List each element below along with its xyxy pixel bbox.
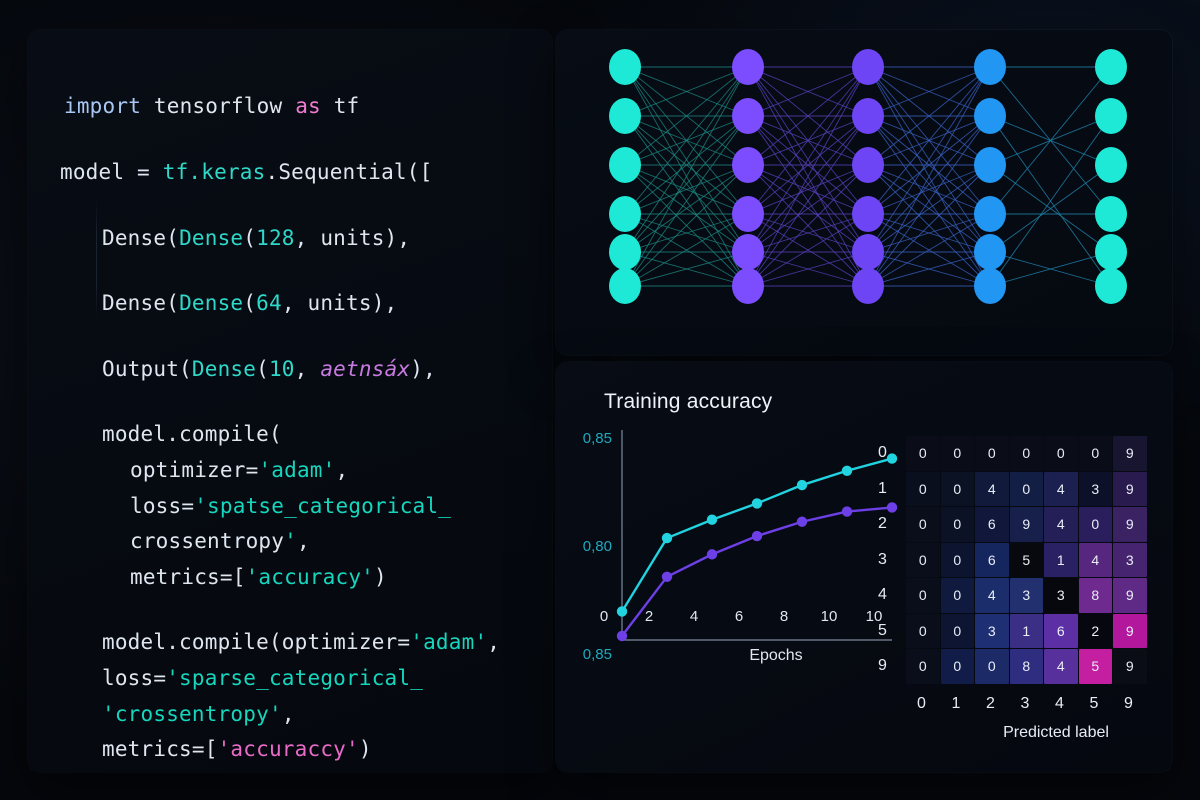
confusion-matrix-cell[interactable]: 4 — [1044, 507, 1078, 542]
confusion-matrix-cell[interactable]: 2 — [1079, 614, 1113, 649]
nn-node-output-layer[interactable] — [1095, 98, 1127, 134]
accuracy-y-tick: 0,85 — [556, 646, 612, 663]
confusion-matrix-row-label: 2 — [878, 515, 887, 533]
confusion-matrix-cell[interactable]: 1 — [1044, 543, 1078, 578]
code-token: 10 — [269, 357, 295, 381]
confusion-matrix-cell[interactable]: 4 — [975, 472, 1009, 507]
accuracy-x-tick: 10 — [811, 608, 847, 625]
confusion-matrix-cell[interactable]: 8 — [1010, 649, 1044, 684]
confusion-matrix-cell[interactable]: 4 — [1044, 472, 1078, 507]
nn-node-hidden-layer-3[interactable] — [974, 234, 1006, 270]
accuracy-point-validation[interactable] — [707, 549, 717, 559]
code-token: 'accuracy' — [246, 565, 374, 589]
confusion-matrix-cell[interactable]: 4 — [975, 578, 1009, 613]
code-token: tf.keras — [163, 160, 266, 184]
accuracy-x-tick: 4 — [676, 608, 712, 625]
code-line-7: optimizer='adam', — [28, 460, 552, 481]
training-accuracy-chart — [574, 422, 904, 682]
accuracy-point-train[interactable] — [842, 466, 852, 476]
nn-node-output-layer[interactable] — [1095, 234, 1127, 270]
code-token: ( — [256, 357, 269, 381]
confusion-matrix-cell[interactable]: 3 — [975, 614, 1009, 649]
nn-node-hidden-layer-3[interactable] — [974, 147, 1006, 183]
confusion-matrix-cell[interactable]: 8 — [1079, 578, 1113, 613]
code-token: Dense — [179, 226, 243, 250]
nn-node-output-layer[interactable] — [1095, 196, 1127, 232]
accuracy-point-train[interactable] — [887, 453, 897, 463]
confusion-matrix-row-label: 4 — [878, 586, 887, 604]
code-token: Dense — [192, 357, 256, 381]
nn-node-input-layer[interactable] — [609, 234, 641, 270]
code-token: model.compile(optimizer= — [102, 630, 410, 654]
code-line-14: metrics=['accuraccy') — [28, 739, 552, 760]
code-token: import — [64, 94, 141, 118]
confusion-matrix-cell[interactable]: 0 — [1010, 436, 1044, 471]
code-token: 64 — [256, 291, 282, 315]
confusion-matrix-cell[interactable]: 0 — [906, 649, 940, 684]
code-panel: import tensorflow as tfmodel = tf.keras.… — [28, 30, 552, 772]
code-token: Dense( — [102, 291, 179, 315]
code-token: aetnsáx — [320, 357, 410, 381]
confusion-matrix-col-label: 9 — [1124, 695, 1133, 713]
nn-node-hidden-layer-1[interactable] — [732, 49, 764, 85]
code-token: ) — [374, 565, 387, 589]
code-line-9: crossentropy', — [28, 531, 552, 552]
accuracy-point-validation[interactable] — [662, 572, 672, 582]
accuracy-point-train[interactable] — [797, 480, 807, 490]
code-token: loss= — [130, 494, 194, 518]
confusion-matrix-col-label: 4 — [1055, 695, 1064, 713]
confusion-matrix-cell[interactable]: 1 — [1010, 614, 1044, 649]
nn-node-hidden-layer-2[interactable] — [852, 268, 884, 304]
nn-node-hidden-layer-2[interactable] — [852, 98, 884, 134]
code-token: 128 — [256, 226, 295, 250]
confusion-matrix-cell[interactable]: 0 — [941, 507, 975, 542]
confusion-matrix-cell[interactable]: 0 — [941, 578, 975, 613]
code-token: , — [336, 458, 349, 482]
accuracy-point-validation[interactable] — [617, 631, 627, 641]
code-line-2: model = tf.keras.Sequential([ — [28, 162, 552, 183]
code-token: model = — [60, 160, 163, 184]
code-line-13: 'crossentropy', — [28, 704, 552, 725]
confusion-matrix-cell[interactable]: 0 — [1044, 436, 1078, 471]
code-token: ' — [284, 529, 297, 553]
confusion-matrix-cell[interactable]: 0 — [1079, 507, 1113, 542]
code-token: ), — [410, 357, 436, 381]
code-token: ( — [243, 226, 256, 250]
code-line-3: Dense(Dense(128, units), — [28, 228, 552, 249]
app-root: import tensorflow as tfmodel = tf.keras.… — [0, 0, 1200, 800]
chart-title: Training accuracy — [604, 390, 772, 414]
confusion-matrix-row-label: 1 — [878, 480, 887, 498]
code-token: Dense( — [102, 226, 179, 250]
confusion-matrix-cell[interactable]: 4 — [1079, 543, 1113, 578]
code-token: metrics=[ — [130, 565, 246, 589]
confusion-matrix-col-label: 0 — [917, 695, 926, 713]
confusion-matrix-cell[interactable]: 9 — [1113, 436, 1147, 471]
nn-node-input-layer[interactable] — [609, 196, 641, 232]
code-token: optimizer= — [130, 458, 258, 482]
code-token: 'crossentropy' — [102, 702, 282, 726]
nn-node-hidden-layer-1[interactable] — [732, 196, 764, 232]
confusion-matrix-cell[interactable]: 0 — [941, 436, 975, 471]
confusion-matrix-cell[interactable]: 0 — [906, 507, 940, 542]
code-line-6: model.compile( — [28, 424, 552, 445]
code-token: 'spatse_categorical_ — [194, 494, 451, 518]
confusion-matrix-row-label: 0 — [878, 444, 887, 462]
code-token: crossentropy — [130, 529, 284, 553]
code-line-12: loss='sparse_categorical_ — [28, 668, 552, 689]
confusion-matrix-cell[interactable]: 0 — [906, 614, 940, 649]
accuracy-x-tick: 8 — [766, 608, 802, 625]
confusion-matrix-cell[interactable]: 0 — [975, 649, 1009, 684]
confusion-matrix-cell[interactable]: 9 — [1113, 507, 1147, 542]
accuracy-x-tick: 6 — [721, 608, 757, 625]
accuracy-point-validation[interactable] — [797, 517, 807, 527]
confusion-matrix-col-label: 5 — [1090, 695, 1099, 713]
accuracy-x-axis-label: Epochs — [706, 647, 846, 665]
nn-node-input-layer[interactable] — [609, 268, 641, 304]
confusion-matrix-cell[interactable]: 9 — [1113, 472, 1147, 507]
confusion-matrix-cell[interactable]: 9 — [1113, 649, 1147, 684]
code-line-11: model.compile(optimizer='adam', — [28, 632, 552, 653]
confusion-matrix-x-axis-label: Predicted label — [966, 724, 1146, 742]
confusion-matrix-cell[interactable]: 5 — [1010, 543, 1044, 578]
nn-node-hidden-layer-2[interactable] — [852, 234, 884, 270]
accuracy-point-validation[interactable] — [752, 531, 762, 541]
confusion-matrix-cell[interactable]: 9 — [1113, 578, 1147, 613]
confusion-matrix-col-label: 2 — [986, 695, 995, 713]
confusion-matrix-col-label: 3 — [1021, 695, 1030, 713]
code-token: 'sparse_categorical_ — [166, 666, 423, 690]
nn-node-input-layer[interactable] — [609, 49, 641, 85]
nn-node-hidden-layer-3[interactable] — [974, 196, 1006, 232]
accuracy-point-train[interactable] — [662, 533, 672, 543]
confusion-matrix-cell[interactable]: 0 — [941, 649, 975, 684]
confusion-matrix-cell[interactable]: 0 — [906, 472, 940, 507]
code-token: 'adam' — [258, 458, 335, 482]
confusion-matrix-row-label: 3 — [878, 551, 887, 569]
accuracy-y-tick: 0,85 — [556, 430, 612, 447]
nn-node-output-layer[interactable] — [1095, 147, 1127, 183]
accuracy-y-tick: 0,80 — [556, 538, 612, 555]
nn-node-hidden-layer-2[interactable] — [852, 147, 884, 183]
code-token: metrics=[ — [102, 737, 218, 761]
confusion-matrix-cell[interactable]: 4 — [1044, 649, 1078, 684]
confusion-matrix-cell[interactable]: 0 — [941, 472, 975, 507]
confusion-matrix-cell[interactable]: 0 — [975, 436, 1009, 471]
nn-node-hidden-layer-3[interactable] — [974, 98, 1006, 134]
code-token: , — [295, 357, 321, 381]
code-token: Output( — [102, 357, 192, 381]
confusion-matrix-cell[interactable]: 0 — [1079, 436, 1113, 471]
confusion-matrix-cell[interactable]: 6 — [975, 543, 1009, 578]
code-token: , — [487, 630, 500, 654]
nn-node-hidden-layer-3[interactable] — [974, 49, 1006, 85]
confusion-matrix-cell[interactable]: 9 — [1010, 507, 1044, 542]
nn-node-hidden-layer-2[interactable] — [852, 196, 884, 232]
code-token: , units), — [295, 226, 411, 250]
confusion-matrix-cell[interactable]: 6 — [1044, 614, 1078, 649]
confusion-matrix-cell[interactable]: 0 — [1010, 472, 1044, 507]
nn-node-hidden-layer-1[interactable] — [732, 98, 764, 134]
code-token: tf — [321, 94, 360, 118]
nn-node-input-layer[interactable] — [609, 147, 641, 183]
nn-node-hidden-layer-1[interactable] — [732, 268, 764, 304]
code-token: 'accuraccy' — [218, 737, 359, 761]
confusion-matrix-cell[interactable]: 0 — [906, 578, 940, 613]
code-line-5: Output(Dense(10, aetnsáx), — [28, 359, 552, 380]
confusion-matrix-cell[interactable]: 5 — [1079, 649, 1113, 684]
nn-node-hidden-layer-3[interactable] — [974, 268, 1006, 304]
code-token: loss= — [102, 666, 166, 690]
nn-node-output-layer[interactable] — [1095, 49, 1127, 85]
code-token: Dense — [179, 291, 243, 315]
code-token: model.compile( — [102, 422, 282, 446]
confusion-matrix-cell[interactable]: 0 — [941, 614, 975, 649]
confusion-matrix-cell[interactable]: 3 — [1044, 578, 1078, 613]
confusion-matrix-cell[interactable]: 0 — [906, 436, 940, 471]
confusion-matrix-cell[interactable]: 3 — [1079, 472, 1113, 507]
code-token: ( — [243, 291, 256, 315]
confusion-matrix-cell[interactable]: 9 — [1113, 614, 1147, 649]
code-line-4: Dense(Dense(64, units), — [28, 293, 552, 314]
nn-node-output-layer[interactable] — [1095, 268, 1127, 304]
nn-node-input-layer[interactable] — [609, 98, 641, 134]
accuracy-x-tick: 0 — [586, 608, 622, 625]
accuracy-point-train[interactable] — [707, 515, 717, 525]
accuracy-x-tick: 2 — [631, 608, 667, 625]
code-token: ) — [359, 737, 372, 761]
accuracy-point-validation[interactable] — [887, 502, 897, 512]
confusion-matrix-grid: 0000009004043900694090065143004338900316… — [906, 436, 1150, 684]
code-token: tensorflow — [141, 94, 295, 118]
code-token: , — [297, 529, 310, 553]
neural-network-diagram — [556, 30, 1172, 355]
accuracy-point-validation[interactable] — [842, 506, 852, 516]
confusion-matrix-col-label: 1 — [952, 695, 961, 713]
code-token: , units), — [282, 291, 398, 315]
code-line-1: import tensorflow as tf — [28, 96, 552, 117]
nn-node-hidden-layer-1[interactable] — [732, 147, 764, 183]
code-line-8: loss='spatse_categorical_ — [28, 496, 552, 517]
neural-network-panel — [556, 30, 1172, 355]
confusion-matrix-cell[interactable]: 0 — [906, 543, 940, 578]
code-line-10: metrics=['accuracy') — [28, 567, 552, 588]
code-token: 'adam' — [410, 630, 487, 654]
nn-node-hidden-layer-2[interactable] — [852, 49, 884, 85]
confusion-matrix-cell[interactable]: 0 — [941, 543, 975, 578]
confusion-matrix-row-label: 5 — [878, 622, 887, 640]
code-token: .Sequential([ — [266, 160, 433, 184]
nn-node-hidden-layer-1[interactable] — [732, 234, 764, 270]
confusion-matrix-row-label: 9 — [878, 657, 887, 675]
confusion-matrix-cell[interactable]: 6 — [975, 507, 1009, 542]
code-token: as — [295, 94, 321, 118]
confusion-matrix-cell[interactable]: 3 — [1010, 578, 1044, 613]
confusion-matrix: 0000009004043900694090065143004338900316… — [906, 436, 1150, 684]
confusion-matrix-cell[interactable]: 3 — [1113, 543, 1147, 578]
accuracy-point-train[interactable] — [752, 498, 762, 508]
code-token: , — [282, 702, 295, 726]
